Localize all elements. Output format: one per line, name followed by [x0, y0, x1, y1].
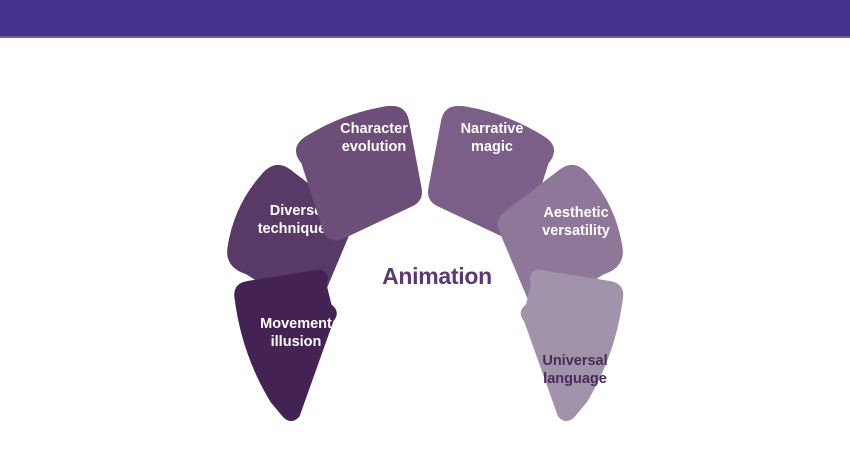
- segment-universal-language-line1: Universal: [542, 353, 607, 369]
- segment-diverse-techniques-line1: Diverse: [270, 203, 322, 219]
- animation-wheel-diagram: Diverse techniques Character evolution N…: [0, 36, 850, 450]
- segment-universal-language-shape[interactable]: [521, 270, 624, 422]
- segment-narrative-magic-line2: magic: [471, 139, 513, 155]
- segment-aesthetic-versatility-line2: versatility: [542, 223, 610, 239]
- center-label: Animation: [382, 263, 492, 289]
- segment-universal-language[interactable]: Universal language: [521, 270, 624, 422]
- header-bar: [0, 0, 850, 36]
- segment-character-evolution-line2: evolution: [342, 139, 406, 155]
- segment-movement-illusion[interactable]: Movement illusion: [234, 270, 337, 422]
- segment-aesthetic-versatility-line1: Aesthetic: [543, 205, 608, 221]
- segment-universal-language-line2: language: [543, 371, 607, 387]
- segment-character-evolution-line1: Character: [340, 121, 408, 137]
- segment-narrative-magic-line1: Narrative: [461, 121, 524, 137]
- segment-movement-illusion-line1: Movement: [260, 316, 332, 332]
- segment-movement-illusion-line2: illusion: [271, 334, 322, 350]
- diagram-svg: Diverse techniques Character evolution N…: [0, 36, 850, 450]
